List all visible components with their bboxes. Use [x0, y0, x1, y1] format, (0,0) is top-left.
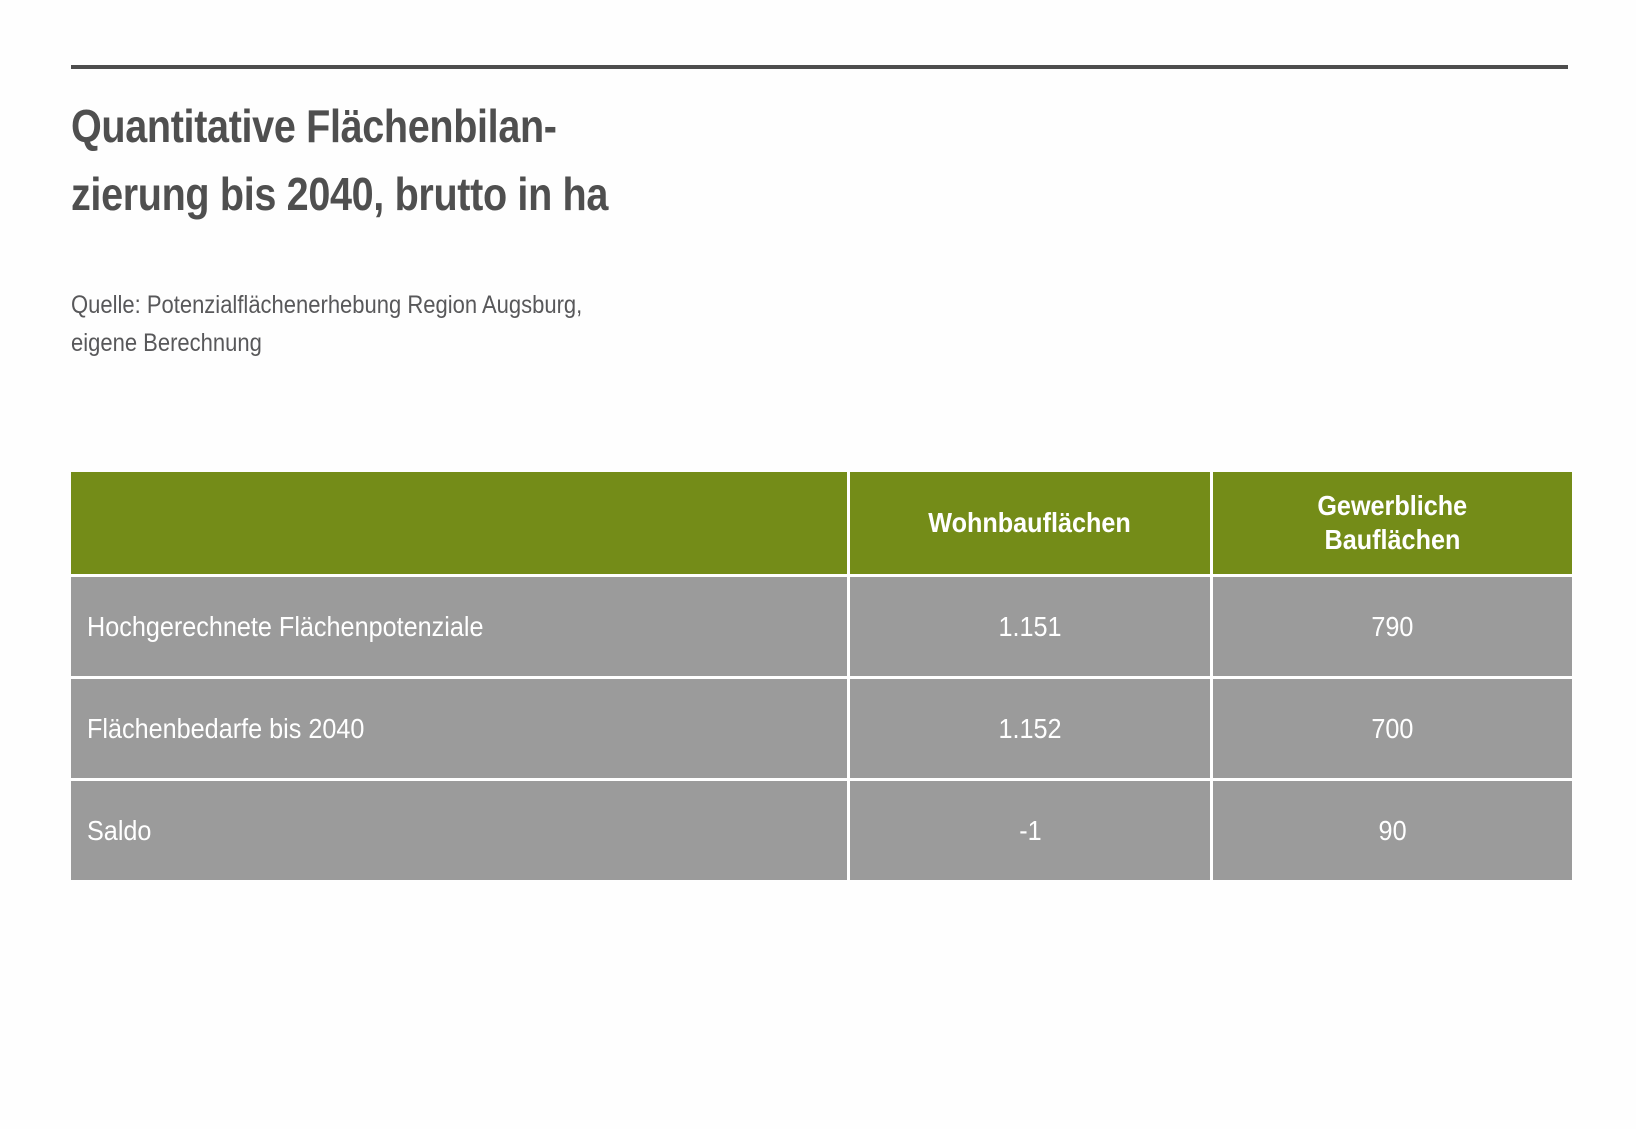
column-header-wohnbauflaechen-label: Wohnbauflächen [929, 506, 1132, 540]
cell-saldo-gewerbliche: 90 [1213, 781, 1572, 880]
page-title: Quantitative Flächenbilan- zierung bis 2… [71, 92, 1171, 228]
source-note-line-2: eigene Berechnung [71, 324, 863, 362]
cell-hochgerechnete-gewerbliche: 790 [1213, 577, 1572, 679]
source-note-line-1: Quelle: Potenzialflächenerhebung Region … [71, 286, 863, 324]
column-header-blank [71, 472, 850, 577]
row-label-text: Saldo [87, 814, 151, 848]
cell-value-text: 1.151 [998, 610, 1061, 644]
cell-hochgerechnete-wohnbauflaechen: 1.151 [850, 577, 1213, 679]
table-body: Hochgerechnete Flächenpotenziale 1.151 7… [71, 577, 1572, 880]
row-label-text: Hochgerechnete Flächenpotenziale [87, 610, 483, 644]
source-note: Quelle: Potenzialflächenerhebung Region … [71, 286, 971, 362]
row-label-hochgerechnete-flaechenpotenziale: Hochgerechnete Flächenpotenziale [71, 577, 850, 679]
cell-value-text: -1 [1019, 814, 1041, 848]
column-header-gewerbliche-bauflaechen: Gewerbliche Bauflächen [1213, 472, 1572, 577]
table-header: Wohnbauflächen Gewerbliche Bauflächen [71, 472, 1572, 577]
top-divider-rule [71, 65, 1568, 69]
page-title-line-2: zierung bis 2040, brutto in ha [71, 160, 1017, 228]
cell-value-text: 90 [1378, 814, 1406, 848]
row-label-text: Flächenbedarfe bis 2040 [87, 712, 364, 746]
cell-value-text: 1.152 [998, 712, 1061, 746]
cell-flaechenbedarfe-gewerbliche: 700 [1213, 679, 1572, 781]
cell-saldo-wohnbauflaechen: -1 [850, 781, 1213, 880]
table-row: Flächenbedarfe bis 2040 1.152 700 [71, 679, 1572, 781]
row-label-flaechenbedarfe-bis-2040: Flächenbedarfe bis 2040 [71, 679, 850, 781]
row-label-saldo: Saldo [71, 781, 850, 880]
table-row: Saldo -1 90 [71, 781, 1572, 880]
column-header-gewerbliche-bauflaechen-line-2: Bauflächen [1325, 523, 1461, 557]
data-table: Wohnbauflächen Gewerbliche Bauflächen Ho… [71, 472, 1572, 880]
cell-flaechenbedarfe-wohnbauflaechen: 1.152 [850, 679, 1213, 781]
cell-value-text: 790 [1371, 610, 1413, 644]
table-header-row: Wohnbauflächen Gewerbliche Bauflächen [71, 472, 1572, 577]
column-header-wohnbauflaechen: Wohnbauflächen [850, 472, 1213, 577]
table-row: Hochgerechnete Flächenpotenziale 1.151 7… [71, 577, 1572, 679]
infographic-page: Quantitative Flächenbilan- zierung bis 2… [0, 0, 1636, 1129]
cell-value-text: 700 [1371, 712, 1413, 746]
column-header-gewerbliche-bauflaechen-line-1: Gewerbliche [1318, 489, 1468, 523]
page-title-line-1: Quantitative Flächenbilan- [71, 92, 1017, 160]
